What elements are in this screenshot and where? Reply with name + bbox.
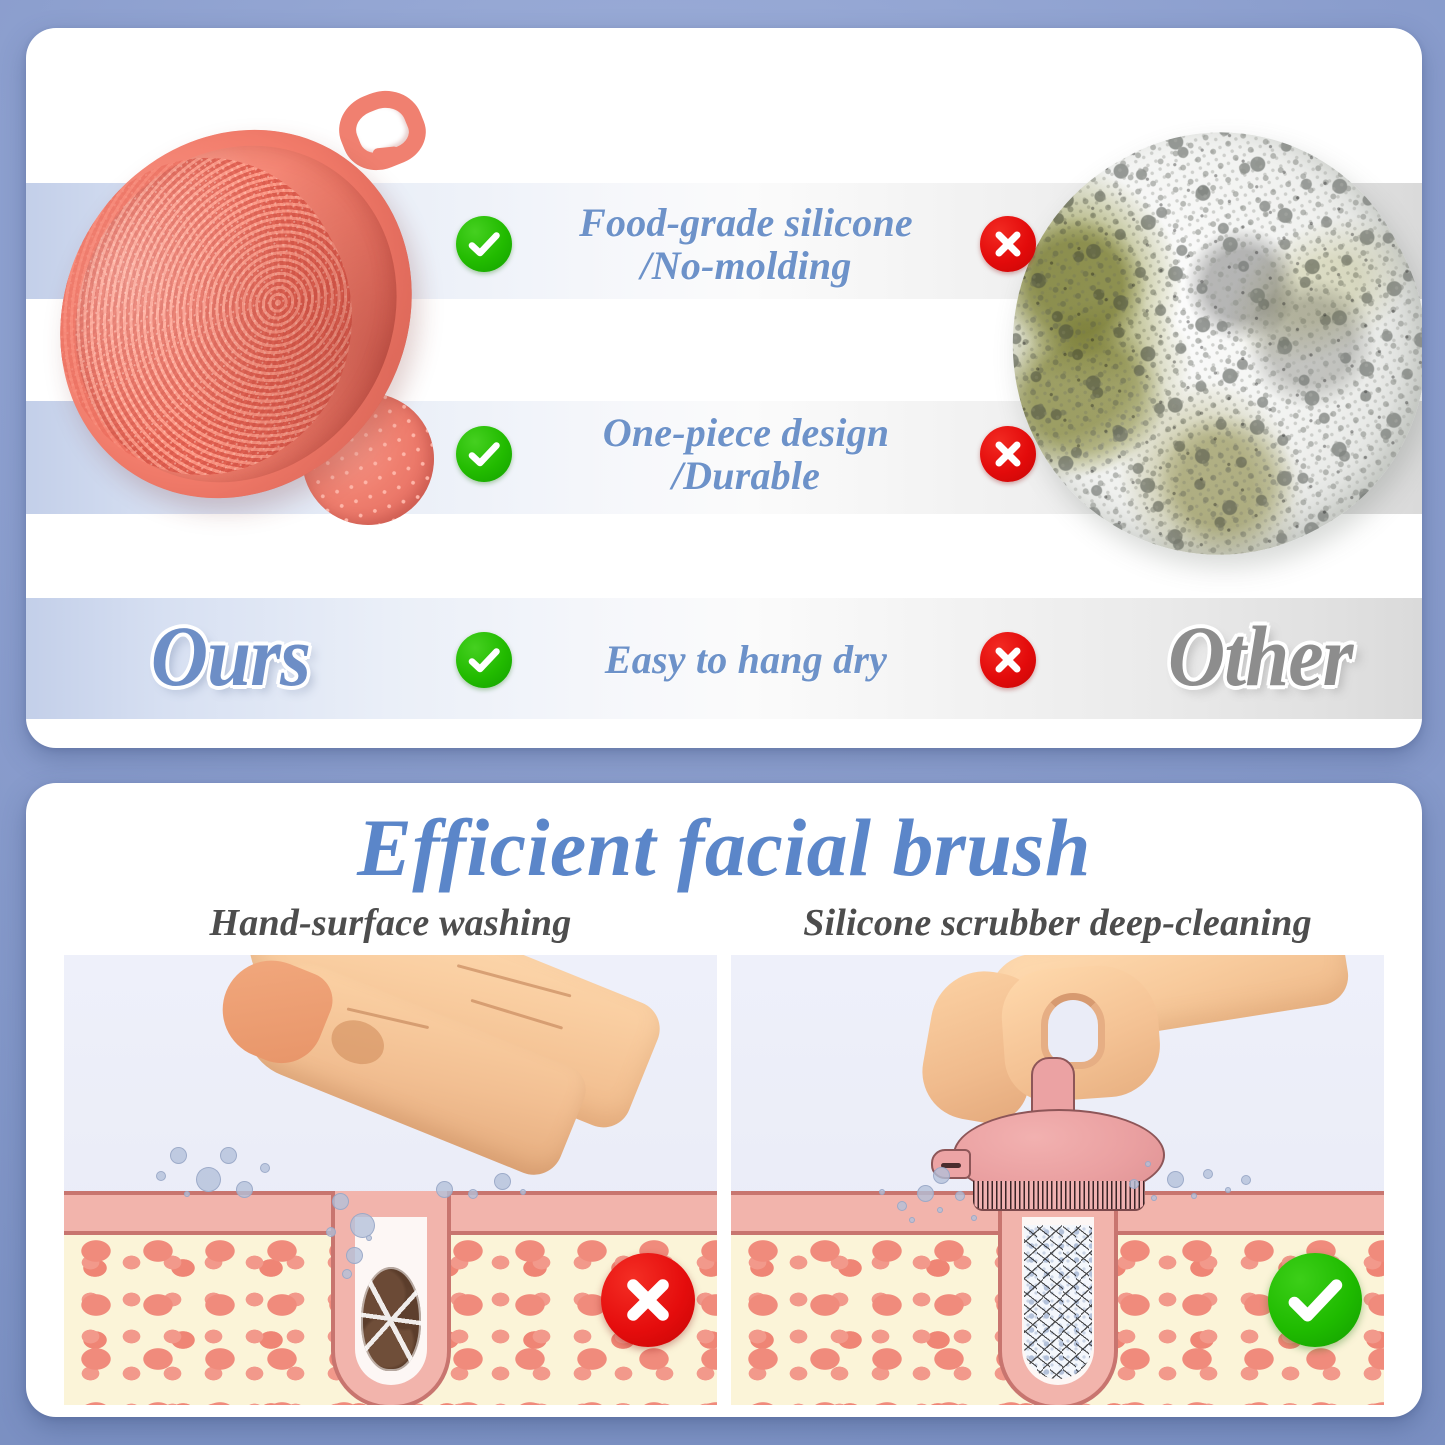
ours-check-badge-1 [456, 216, 512, 272]
comparison-card: Food-grade silicone /No-molding One-piec… [26, 28, 1422, 748]
bubble [260, 1163, 270, 1173]
cross-mark-icon [988, 224, 1028, 264]
ours-product-image-silicone-brush [44, 68, 464, 548]
loosened-debris [1024, 1225, 1092, 1379]
panel-hand-surface-washing: Hand-surface washing [64, 901, 717, 1405]
comparison-row-1: Food-grade silicone /No-molding [456, 196, 1036, 292]
cleaned-pore-contents [1024, 1225, 1092, 1379]
panel-caption-right: Silicone scrubber deep-cleaning [731, 901, 1384, 945]
result-badge-negative [601, 1253, 695, 1347]
clogged-sebum-plug [361, 1267, 421, 1371]
cross-mark-icon [988, 640, 1028, 680]
check-mark-icon [464, 640, 504, 680]
cross-mark-icon [615, 1267, 681, 1333]
feature-label-1: Food-grade silicone /No-molding [524, 201, 968, 287]
check-mark-icon [464, 434, 504, 474]
check-mark-icon [1282, 1267, 1348, 1333]
pore-lumen [1022, 1217, 1094, 1385]
comparison-panels: Hand-surface washing [64, 901, 1384, 1405]
bubble [196, 1167, 221, 1192]
bubble [1241, 1175, 1251, 1185]
result-badge-positive [1268, 1253, 1362, 1347]
pore-cross-section [331, 1191, 451, 1405]
bubble [156, 1171, 166, 1181]
other-label: Other [1168, 606, 1352, 706]
brush-hang-tab [931, 1149, 971, 1179]
panel-caption-left: Hand-surface washing [64, 901, 717, 945]
brush-bristles [973, 1181, 1145, 1211]
comparison-row-3: Easy to hang dry [456, 612, 1036, 708]
ours-check-badge-2 [456, 426, 512, 482]
plug-cracks [361, 1267, 421, 1371]
other-cross-badge-2 [980, 426, 1036, 482]
feature-label-2: One-piece design /Durable [524, 411, 968, 497]
cross-mark-icon [988, 434, 1028, 474]
other-product-image-moldy-sponge [938, 64, 1422, 626]
facial-brush-card: Efficient facial brush Hand-surface wash… [26, 783, 1422, 1417]
bubble [1203, 1169, 1213, 1179]
bubble [170, 1147, 187, 1164]
facial-card-title: Efficient facial brush [26, 807, 1422, 889]
panel-silicone-deep-cleaning: Silicone scrubber deep-cleaning [731, 901, 1384, 1405]
illustration-clogged-pore [64, 955, 717, 1405]
comparison-row-2: One-piece design /Durable [456, 406, 1036, 502]
ours-label: Ours [151, 606, 310, 706]
feature-label-3: Easy to hang dry [524, 638, 968, 681]
illustration-clean-pore [731, 955, 1384, 1405]
other-cross-badge-3 [980, 632, 1036, 688]
other-cross-badge-1 [980, 216, 1036, 272]
pore-lumen [355, 1217, 427, 1385]
infographic-page: Food-grade silicone /No-molding One-piec… [0, 0, 1445, 1445]
check-mark-icon [464, 224, 504, 264]
silicone-brush-illustration [929, 1105, 1187, 1233]
ours-check-badge-3 [456, 632, 512, 688]
black-specks [938, 64, 1422, 626]
bubble [220, 1147, 237, 1164]
